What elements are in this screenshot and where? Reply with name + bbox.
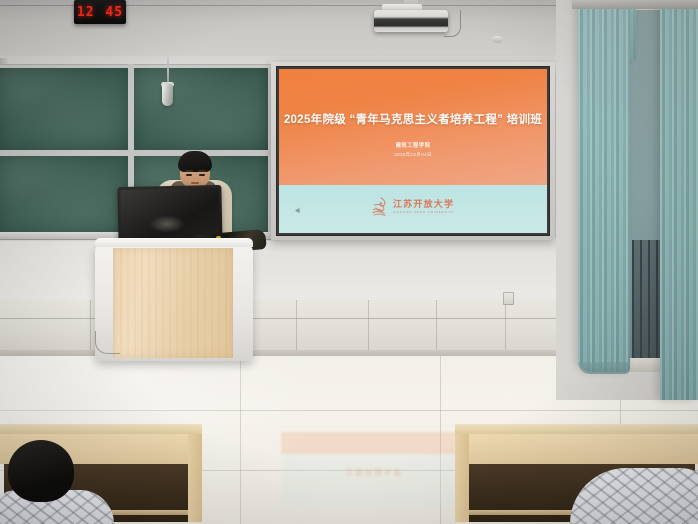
chalkboard-panel-bottom-left: [0, 156, 128, 236]
desk-right-top: [455, 424, 698, 434]
monitor-glare: [149, 215, 185, 234]
platform-seam-v5: [90, 300, 91, 352]
wall-digital-clock: 12 45: [74, 0, 126, 24]
university-name-chinese: 江苏开放大学: [393, 200, 454, 209]
university-logo-text: 江苏开放大学 JIANGSU OPEN UNIVERSITY: [393, 200, 455, 214]
student-foreground-right: [570, 468, 698, 524]
student-left-head: [8, 440, 74, 502]
classroom-scene: 12 45 2025年院级 “青年马克思主义者培养工程” 培训班 建筑工程学院 …: [0, 0, 698, 524]
wall-light-switch[interactable]: [503, 292, 514, 305]
ceiling-sensor-icon: [492, 36, 503, 43]
university-name-english: JIANGSU OPEN UNIVERSITY: [393, 211, 455, 214]
student-right-top: [570, 468, 698, 524]
presenter-eyebrow-right: [198, 170, 206, 172]
presenter-eye-right: [199, 174, 205, 176]
clock-separator: [95, 6, 106, 19]
desk-left-top: [0, 424, 202, 434]
university-crest-icon: [371, 197, 388, 217]
window-curtain-right: [660, 0, 698, 400]
desk-right-side-panel: [455, 434, 469, 522]
slide-top-band: [279, 69, 547, 185]
ceiling-projector: [374, 10, 448, 32]
floor-tile-line-h1: [0, 410, 698, 411]
slide-subtitle: 建筑工程学院: [279, 141, 547, 149]
clock-minutes: 45: [105, 6, 123, 19]
slide-title: 2025年院级 “青年马克思主义者培养工程” 培训班: [279, 111, 547, 127]
hanging-microphone: [162, 84, 173, 106]
presentation-slide: 2025年院级 “青年马克思主义者培养工程” 培训班 建筑工程学院 2025年1…: [279, 69, 547, 233]
presenter-mouth: [191, 182, 199, 184]
chalkboard-panel-top-right: [134, 68, 268, 150]
slide-date: 2025年12月04日: [279, 152, 547, 158]
presenter-hair: [178, 151, 212, 172]
desk-right-apron: [455, 434, 698, 464]
floor-tile-line-v1: [240, 356, 241, 524]
platform-seam-v1: [296, 300, 297, 352]
chalkboard-panel-top-left: [0, 68, 128, 150]
presenter-eyebrow-left: [185, 170, 193, 172]
presenter-eye-left: [186, 174, 192, 176]
curtain-rod: [572, 0, 698, 9]
platform-seam-v3: [436, 300, 437, 352]
lectern-front-panel: [113, 248, 233, 358]
clock-hours: 12: [77, 6, 95, 19]
lectern-wood-grain: [113, 248, 233, 358]
floor-tile-line-v2: [440, 356, 441, 524]
student-foreground-left: [0, 440, 114, 524]
desk-left-side-panel: [188, 434, 202, 522]
curtain-hem: [578, 362, 630, 374]
window-curtain-left: [578, 0, 630, 372]
lectern-power-cord: [95, 331, 120, 354]
audio-speaker-icon: [294, 206, 303, 215]
podium-lectern: [95, 243, 253, 361]
projector-cable: [444, 10, 461, 37]
lectern-top-surface: [95, 238, 253, 247]
platform-seam-v4: [505, 300, 506, 352]
platform-seam-v2: [368, 300, 369, 352]
university-logo: 江苏开放大学 JIANGSU OPEN UNIVERSITY: [279, 197, 547, 217]
